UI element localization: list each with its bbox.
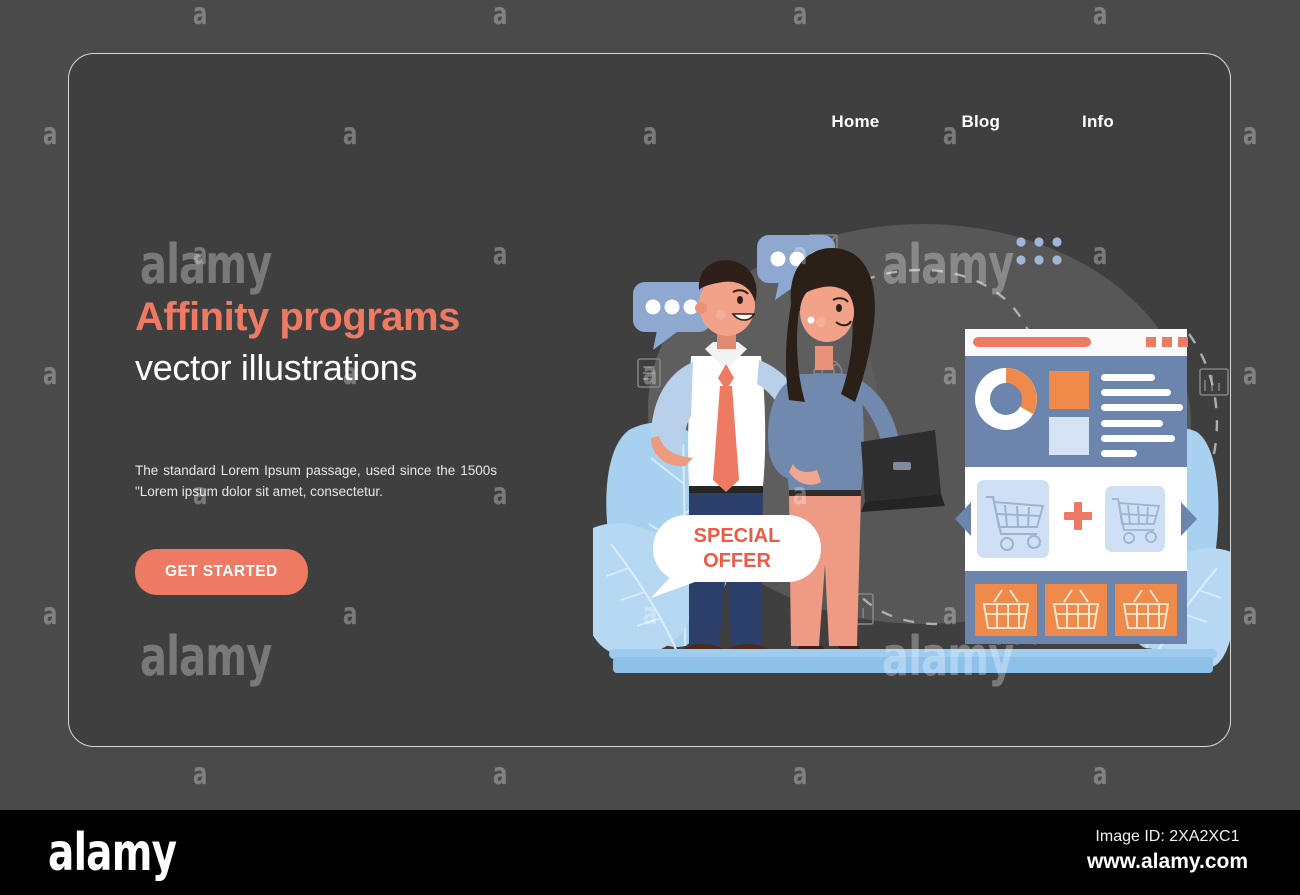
watermark-letter: a [1093, 760, 1108, 790]
badge-line-2: OFFER [703, 550, 771, 572]
top-navigation: Home Blog Info [69, 112, 1230, 132]
watermark-letter: a [1093, 0, 1108, 30]
floor-platform [609, 649, 1217, 673]
landing-page-card: Home Blog Info Affinity programs vector … [68, 53, 1231, 747]
bar-chart-icon [1200, 369, 1228, 395]
alamy-footer-bar: alamy Image ID: 2XA2XC1 www.alamy.com [0, 810, 1300, 895]
screenshot-root: Home Blog Info Affinity programs vector … [0, 0, 1300, 895]
hero-illustration: SPECIAL OFFER [593, 194, 1231, 694]
nav-item-home[interactable]: Home [831, 112, 879, 132]
badge-line-1: SPECIAL [694, 525, 781, 547]
watermark-letter: a [193, 0, 208, 30]
watermark-letter: a [43, 600, 58, 630]
watermark-letter: a [193, 760, 208, 790]
swatch-light [1049, 417, 1089, 455]
watermark-letter: a [1243, 360, 1258, 390]
alamy-url: www.alamy.com [1087, 850, 1248, 874]
watermark-letter: a [1243, 120, 1258, 150]
watermark-letter: a [1243, 600, 1258, 630]
laptop-icon [861, 430, 945, 512]
dashboard-window [955, 329, 1197, 644]
nav-item-blog[interactable]: Blog [961, 112, 1000, 132]
watermark-letter: a [43, 120, 58, 150]
watermark-letter: a [493, 760, 508, 790]
get-started-button[interactable]: GET STARTED [135, 549, 308, 595]
donut-chart-icon [975, 368, 1037, 430]
page-title: Affinity programs [135, 294, 605, 340]
watermark-letter: a [793, 760, 808, 790]
nav-item-info[interactable]: Info [1082, 112, 1114, 132]
hero-body-text: The standard Lorem Ipsum passage, used s… [135, 461, 497, 503]
watermark-letter: a [493, 0, 508, 30]
swatch-orange [1049, 371, 1089, 409]
hero-section: Affinity programs vector illustrations T… [135, 294, 605, 595]
page-subtitle: vector illustrations [135, 346, 605, 389]
basket-row [975, 584, 1177, 636]
image-id-label: Image ID: 2XA2XC1 [1087, 828, 1248, 846]
watermark-letter: a [793, 0, 808, 30]
alamy-logo: alamy [48, 827, 176, 879]
footer-credits: Image ID: 2XA2XC1 www.alamy.com [1087, 828, 1248, 874]
watermark-letter: a [43, 360, 58, 390]
